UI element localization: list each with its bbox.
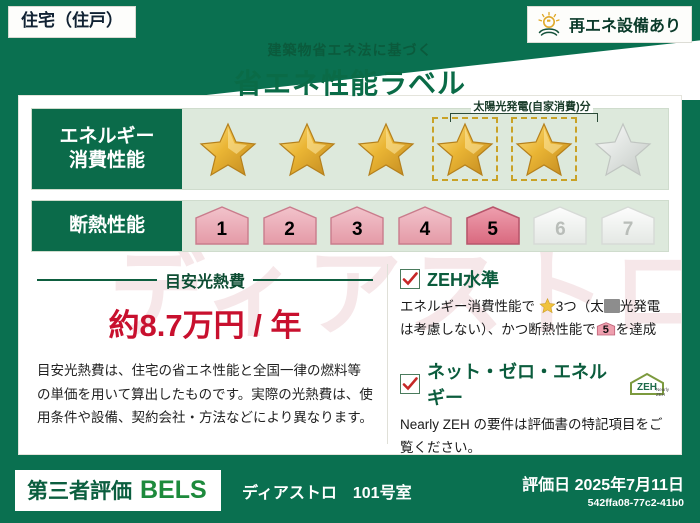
label-title-block: 建築物省エネ法に基づく 省エネ性能ラベル	[0, 40, 700, 102]
insulation-grade-list: 1 2 3 4 5	[182, 201, 668, 251]
insulation-grade-7-value: 7	[623, 219, 634, 247]
energy-label-line2: 消費性能	[69, 149, 145, 173]
star-4-solar-dashed-outline	[432, 117, 498, 181]
zeh-column: ZEH水準 エネルギー消費性能で 3つ（太光発電は考慮しない）、かつ断熱性能で …	[394, 260, 671, 452]
star-4	[434, 118, 496, 180]
insulation-performance-row: 断熱性能 1 2	[31, 200, 669, 252]
utility-cost-heading-text: 目安光熱費	[165, 268, 245, 292]
energy-label-line1: エネルギー	[59, 125, 154, 149]
heading-rule-right	[253, 279, 373, 281]
insulation-grade-4-value: 4	[420, 219, 431, 247]
inline-grade-value: 5	[596, 321, 616, 337]
zeh-standard-title: ZEH水準	[427, 266, 499, 292]
zeh-standard-header: ZEH水準	[400, 266, 667, 292]
insulation-grade-7: 7	[598, 205, 658, 247]
title-subtitle: 建築物省エネ法に基づく	[0, 40, 700, 60]
utility-cost-heading: 目安光熱費	[37, 268, 373, 292]
building-type-badge: 住宅（住戸）	[8, 6, 136, 38]
zeh-standard-checkbox	[400, 269, 420, 289]
insulation-grade-5-value: 5	[487, 219, 498, 247]
star-2	[276, 118, 338, 180]
renewable-energy-label: 再エネ設備あり	[569, 12, 681, 36]
star-1	[197, 118, 259, 180]
insulation-grade-5-achieved: 5	[463, 205, 523, 247]
energy-performance-row: エネルギー 消費性能 太陽光発電(自家消費)分	[31, 108, 669, 190]
solar-sun-icon	[536, 11, 562, 37]
insulation-grades-area: 1 2 3 4 5	[182, 201, 668, 251]
bels-badge-en: BELS	[140, 476, 207, 505]
inline-grade-house-icon: 5	[596, 321, 616, 337]
heading-rule-left	[37, 279, 157, 281]
bels-badge-jp: 第三者評価	[27, 475, 132, 505]
solar-bracket	[450, 113, 598, 122]
zeh-desc-part-a: エネルギー消費性能で	[400, 299, 535, 314]
star-3	[355, 118, 417, 180]
zeh-logo-sublabel: NearlyZEH	[656, 387, 669, 397]
redaction-block	[604, 299, 620, 313]
insulation-grade-1-value: 1	[217, 219, 228, 247]
bels-energy-label: 住宅（住戸） 再エネ設備あり 建築物省エネ法に基づく 省エネ性能ラベル	[0, 0, 700, 523]
zeh-desc-part-b: 3つ（太	[556, 299, 604, 314]
net-zero-title: ネット・ゼロ・エネルギー	[427, 358, 618, 410]
net-zero-block: ネット・ゼロ・エネルギー ZEH NearlyZEH Nearly ZEH の要…	[400, 358, 667, 455]
utility-cost-column: 目安光熱費 約8.7万円 / 年 目安光熱費は、住宅の省エネ性能と全国一律の燃料…	[29, 260, 381, 452]
bels-badge: 第三者評価 BELS	[15, 470, 221, 511]
energy-stars-area: 太陽光発電(自家消費)分	[182, 109, 668, 189]
label-footer: 第三者評価 BELS ディアストロ 101号室 評価日 2025年7月11日 5…	[0, 461, 700, 523]
zeh-logo-icon: ZEH NearlyZEH	[628, 371, 667, 397]
evaluation-date: 評価日 2025年7月11日	[522, 471, 684, 495]
svg-text:ZEH: ZEH	[637, 382, 657, 393]
inline-star-icon	[539, 297, 556, 314]
net-zero-description: Nearly ZEH の要件は評価書の特記項目をご覧ください。	[400, 414, 667, 455]
main-card: ディアストロ エネルギー 消費性能 太陽光発電(自家消費)分	[18, 95, 682, 455]
renewable-energy-badge: 再エネ設備あり	[527, 6, 692, 43]
star-5-solar-dashed-outline	[511, 117, 577, 181]
insulation-grade-2-value: 2	[284, 219, 295, 247]
insulation-grade-6: 6	[530, 205, 590, 247]
insulation-grade-3-value: 3	[352, 219, 363, 247]
zeh-desc-part-d: を達成	[616, 322, 657, 337]
evaluation-info: 評価日 2025年7月11日 542ffa08-77c2-41b0	[522, 471, 684, 509]
column-divider	[387, 264, 388, 444]
insulation-grade-2: 2	[260, 205, 320, 247]
card-lower-section: 目安光熱費 約8.7万円 / 年 目安光熱費は、住宅の省エネ性能と全国一律の燃料…	[29, 260, 671, 452]
title-main: 省エネ性能ラベル	[0, 62, 700, 102]
insulation-performance-label: 断熱性能	[32, 201, 182, 251]
insulation-grade-3: 3	[327, 205, 387, 247]
utility-cost-value: 約8.7万円 / 年	[37, 300, 373, 345]
insulation-grade-4: 4	[395, 205, 455, 247]
net-zero-header: ネット・ゼロ・エネルギー ZEH NearlyZEH	[400, 358, 667, 410]
insulation-grade-6-value: 6	[555, 219, 566, 247]
star-5	[513, 118, 575, 180]
net-zero-checkbox	[400, 374, 420, 394]
insulation-grade-1: 1	[192, 205, 252, 247]
evaluation-id: 542ffa08-77c2-41b0	[522, 497, 684, 509]
star-6	[592, 118, 654, 180]
utility-cost-note: 目安光熱費は、住宅の省エネ性能と全国一律の燃料等の単価を用いて算出したものです。…	[37, 359, 373, 430]
property-unit-name: ディアストロ 101号室	[242, 479, 412, 503]
zeh-standard-description: エネルギー消費性能で 3つ（太光発電は考慮しない）、かつ断熱性能で 5 を達成	[400, 296, 667, 342]
energy-performance-label: エネルギー 消費性能	[32, 109, 182, 189]
